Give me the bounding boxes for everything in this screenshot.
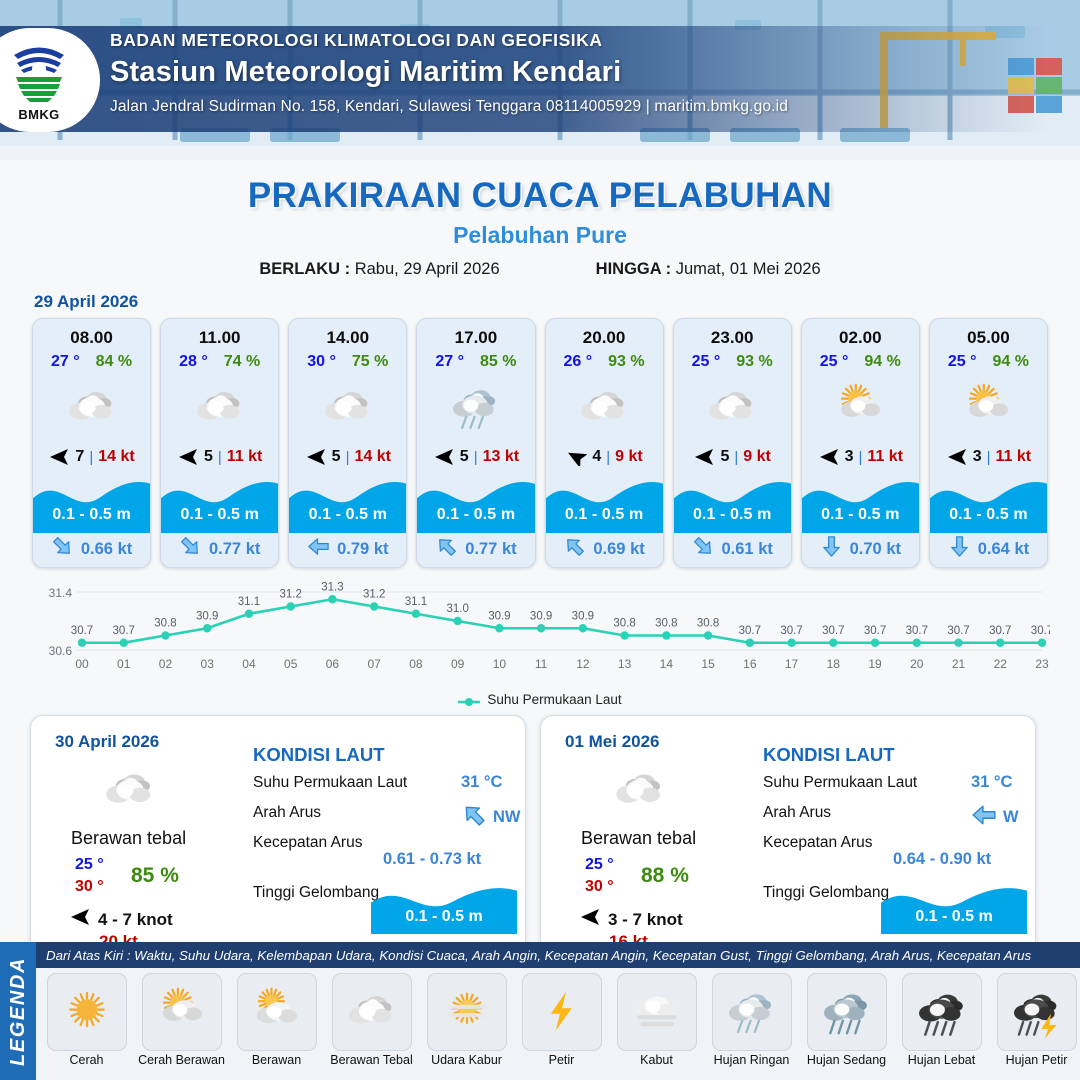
header-org: BADAN METEOROLOGI KLIMATOLOGI DAN GEOFIS… <box>110 30 960 51</box>
legend-item: Hujan Ringan <box>705 973 798 1068</box>
value-wave-height: 0.1 - 0.5 m <box>371 902 517 932</box>
svg-text:30.9: 30.9 <box>572 610 594 622</box>
weather-cerah-berawan-icon <box>142 973 222 1051</box>
card-temperature: 25 ° <box>692 353 721 371</box>
svg-text:30.8: 30.8 <box>655 618 677 630</box>
svg-text:19: 19 <box>868 657 882 671</box>
card-current-row: 0.64 kt <box>930 535 1047 563</box>
card-temperature: 30 ° <box>307 353 336 371</box>
weather-berawan-tebal-icon <box>574 377 634 439</box>
card-wave-height: 0.1 - 0.5 m <box>674 497 791 533</box>
wind-direction-arrow-icon <box>693 448 715 466</box>
current-direction-text: NW <box>493 808 521 827</box>
daily-temp-min: 25 ° <box>585 856 614 874</box>
card-time: 14.00 <box>327 328 370 348</box>
card-gust: 11 kt <box>996 448 1032 466</box>
legend-item: Hujan Lebat <box>895 973 988 1068</box>
card-gust: 13 kt <box>483 448 519 466</box>
card-gust: 11 kt <box>227 448 263 466</box>
svg-text:30.6: 30.6 <box>49 644 73 658</box>
card-wind-row: 3 | 11 kt <box>818 448 903 466</box>
card-wave-height: 0.1 - 0.5 m <box>417 497 534 533</box>
legend-item-label: Hujan Ringan <box>714 1054 790 1068</box>
svg-text:30.7: 30.7 <box>1031 625 1050 637</box>
label-current-speed: Kecepatan Arus <box>253 834 362 852</box>
card-wind-row: 3 | 11 kt <box>946 448 1031 466</box>
current-direction-arrow-icon <box>435 535 458 563</box>
svg-text:16: 16 <box>743 657 757 671</box>
valid-until-value: Jumat, 01 Mei 2026 <box>676 260 821 278</box>
card-time: 17.00 <box>455 328 498 348</box>
card-wind-row: 7 | 14 kt <box>48 448 134 466</box>
chart-legend-label: Suhu Permukaan Laut <box>487 692 621 707</box>
svg-text:01: 01 <box>117 657 131 671</box>
daily-temp-max: 30 ° <box>585 878 614 896</box>
label-wave-height: Tinggi Gelombang <box>253 884 379 902</box>
legend-item: Cerah Berawan <box>135 973 228 1068</box>
current-direction-arrow-icon <box>971 802 997 833</box>
card-humidity: 75 % <box>352 353 388 371</box>
card-humidity: 94 % <box>864 353 900 371</box>
card-wind-row: 5 | 13 kt <box>433 448 519 466</box>
card-separator: | <box>346 449 350 466</box>
legend-item-label: Cerah <box>69 1054 103 1068</box>
card-time: 11.00 <box>199 328 241 348</box>
forecast-card[interactable]: 02.00 25 ° 94 % 3 | 11 kt 0.1 - 0.5 m 0 <box>801 318 920 568</box>
card-current-row: 0.77 kt <box>161 535 278 563</box>
forecast-card[interactable]: 23.00 25 ° 93 % 5 | 9 kt 0.1 - 0.5 m <box>673 318 792 568</box>
legend-item: Berawan <box>230 973 323 1068</box>
card-current-speed: 0.77 kt <box>209 540 260 559</box>
svg-text:15: 15 <box>701 657 715 671</box>
current-direction-arrow-icon <box>948 535 971 563</box>
weather-berawan-tebal-icon <box>318 377 378 439</box>
header-station: Stasiun Meteorologi Maritim Kendari <box>110 56 960 89</box>
card-separator: | <box>218 449 222 466</box>
weather-kabut-icon <box>617 973 697 1051</box>
label-wave-height: Tinggi Gelombang <box>763 884 889 902</box>
card-current-row: 0.70 kt <box>802 535 919 563</box>
sst-chart: 31.430.630.70030.70130.80230.90331.10431… <box>30 578 1050 690</box>
weather-hujan-sedang-icon <box>807 973 887 1051</box>
weather-berawan-tebal-icon <box>609 764 671 824</box>
card-wave-height: 0.1 - 0.5 m <box>802 497 919 533</box>
weather-berawan-tebal-icon <box>190 377 250 439</box>
svg-text:30.7: 30.7 <box>71 625 93 637</box>
wind-direction-arrow-icon <box>177 448 199 466</box>
valid-from-label: BERLAKU : <box>259 260 350 278</box>
wind-direction-arrow-icon <box>818 448 840 466</box>
daily-condition: Berawan tebal <box>71 828 186 849</box>
card-temp-hum-row: 25 ° 94 % <box>820 353 901 371</box>
legend-item-label: Petir <box>549 1054 575 1068</box>
label-current-direction: Arah Arus <box>763 804 831 822</box>
card-time: 05.00 <box>967 328 1010 348</box>
card-wind-speed: 5 <box>204 448 213 466</box>
card-wind-row: 5 | 14 kt <box>305 448 391 466</box>
svg-text:14: 14 <box>660 657 674 671</box>
card-wind-speed: 5 <box>332 448 341 466</box>
card-wind-speed: 3 <box>845 448 854 466</box>
card-current-speed: 0.69 kt <box>593 540 644 559</box>
card-time: 20.00 <box>583 328 626 348</box>
svg-text:03: 03 <box>201 657 215 671</box>
card-separator: | <box>474 449 478 466</box>
card-current-row: 0.66 kt <box>33 535 150 563</box>
card-wind-speed: 7 <box>75 448 84 466</box>
wind-direction-arrow-icon <box>305 448 327 466</box>
card-temperature: 27 ° <box>435 353 464 371</box>
value-current-speed: 0.64 - 0.90 kt <box>893 850 991 869</box>
label-current-direction: Arah Arus <box>253 804 321 822</box>
weather-hujan-ringan-icon <box>712 973 792 1051</box>
svg-text:21: 21 <box>952 657 966 671</box>
bmkg-emblem-icon <box>2 38 76 106</box>
card-gust: 11 kt <box>867 448 903 466</box>
svg-text:11: 11 <box>535 657 548 671</box>
wind-direction-arrow-icon <box>946 448 968 466</box>
bmkg-logo: BMKG <box>0 28 100 132</box>
card-temperature: 27 ° <box>51 353 80 371</box>
card-humidity: 93 % <box>608 353 644 371</box>
card-wind-row: 5 | 11 kt <box>177 448 262 466</box>
svg-text:10: 10 <box>493 657 507 671</box>
svg-text:30.8: 30.8 <box>154 618 176 630</box>
page-title: PRAKIRAAN CUACA PELABUHAN <box>0 176 1080 216</box>
legend-item-label: Hujan Lebat <box>908 1054 975 1068</box>
label-current-speed: Kecepatan Arus <box>763 834 872 852</box>
weather-hujan-petir-icon <box>997 973 1077 1051</box>
card-separator: | <box>987 449 991 466</box>
chart-legend-marker-icon <box>458 695 480 705</box>
daily-condition: Berawan tebal <box>581 828 696 849</box>
forecast-card[interactable]: 20.00 26 ° 93 % 4 | 9 kt 0.1 - 0.5 m <box>545 318 664 568</box>
card-temp-hum-row: 25 ° 93 % <box>692 353 773 371</box>
weather-petir-icon <box>522 973 602 1051</box>
card-current-speed: 0.79 kt <box>337 540 388 559</box>
value-current-speed: 0.61 - 0.73 kt <box>383 850 481 869</box>
card-gust: 9 kt <box>743 448 771 466</box>
card-temperature: 25 ° <box>948 353 977 371</box>
value-current-direction: W <box>971 802 1019 833</box>
svg-text:31.4: 31.4 <box>49 586 73 600</box>
header-address: Jalan Jendral Sudirman No. 158, Kendari,… <box>110 98 960 116</box>
weather-cerah-berawan-icon <box>830 377 890 439</box>
svg-text:30.7: 30.7 <box>739 625 761 637</box>
forecast-card-list: 08.00 27 ° 84 % 7 | 14 kt 0.1 - 0.5 m <box>0 318 1080 568</box>
current-direction-text: W <box>1003 808 1019 827</box>
svg-text:30.7: 30.7 <box>113 625 135 637</box>
weather-berawan-tebal-icon <box>702 377 762 439</box>
bmkg-logo-text: BMKG <box>2 107 76 122</box>
svg-text:30.9: 30.9 <box>488 610 510 622</box>
value-sst: 31 °C <box>971 773 1012 792</box>
card-temperature: 25 ° <box>820 353 849 371</box>
weather-hujan-lebat-icon <box>902 973 982 1051</box>
valid-until: HINGGA : Jumat, 01 Mei 2026 <box>596 260 821 279</box>
legend-section: LEGENDA Dari Atas Kiri : Waktu, Suhu Uda… <box>0 942 1080 1080</box>
label-sst: Suhu Permukaan Laut <box>763 774 917 792</box>
card-temp-hum-row: 26 ° 93 % <box>564 353 645 371</box>
legend-item-label: Cerah Berawan <box>138 1054 225 1068</box>
card-time: 02.00 <box>839 328 882 348</box>
svg-text:12: 12 <box>576 657 590 671</box>
weather-cerah-icon <box>47 973 127 1051</box>
card-humidity: 74 % <box>224 353 260 371</box>
legend-item-list: Cerah Cerah Berawan Berawan <box>36 968 1080 1080</box>
legend-item: Cerah <box>40 973 133 1068</box>
card-humidity: 94 % <box>993 353 1029 371</box>
card-current-row: 0.69 kt <box>546 535 663 563</box>
legend-item-label: Hujan Petir <box>1006 1054 1068 1068</box>
svg-text:02: 02 <box>159 657 173 671</box>
forecast-card[interactable]: 14.00 30 ° 75 % 5 | 14 kt 0.1 - 0.5 m <box>288 318 407 568</box>
svg-text:31.1: 31.1 <box>405 596 427 608</box>
daily-date: 01 Mei 2026 <box>565 732 660 752</box>
svg-text:30.7: 30.7 <box>989 625 1011 637</box>
sea-condition-title: KONDISI LAUT <box>253 744 385 766</box>
svg-text:30.9: 30.9 <box>196 610 218 622</box>
card-wind-speed: 3 <box>973 448 982 466</box>
current-direction-arrow-icon <box>179 535 202 563</box>
card-separator: | <box>606 449 610 466</box>
forecast-card[interactable]: 05.00 25 ° 94 % 3 | 11 kt 0.1 - 0.5 m 0 <box>929 318 1048 568</box>
svg-text:07: 07 <box>367 657 381 671</box>
card-wave-height: 0.1 - 0.5 m <box>161 497 278 533</box>
current-direction-arrow-icon <box>820 535 843 563</box>
wind-direction-arrow-icon <box>579 908 601 931</box>
legend-item: Kabut <box>610 973 703 1068</box>
svg-text:18: 18 <box>827 657 841 671</box>
legend-side-title: LEGENDA <box>7 957 30 1066</box>
card-temp-hum-row: 28 ° 74 % <box>179 353 260 371</box>
current-direction-arrow-icon <box>563 535 586 563</box>
chart-legend: Suhu Permukaan Laut <box>0 692 1080 707</box>
card-current-speed: 0.61 kt <box>722 540 773 559</box>
daily-wind-row: 4 - 7 knot <box>69 908 173 931</box>
svg-text:30.7: 30.7 <box>864 625 886 637</box>
value-sst: 31 °C <box>461 773 502 792</box>
svg-text:31.2: 31.2 <box>363 589 385 601</box>
card-temp-hum-row: 27 ° 84 % <box>51 353 132 371</box>
svg-text:06: 06 <box>326 657 340 671</box>
svg-text:30.7: 30.7 <box>822 625 844 637</box>
forecast-card[interactable]: 11.00 28 ° 74 % 5 | 11 kt 0.1 - 0.5 m <box>160 318 279 568</box>
card-gust: 9 kt <box>615 448 643 466</box>
svg-text:30.9: 30.9 <box>530 610 552 622</box>
weather-berawan-tebal-icon <box>62 377 122 439</box>
daily-summary-row: 30 April 2026 Berawan tebal 25 ° 30 ° 85… <box>0 707 1080 957</box>
sst-chart-svg: 31.430.630.70030.70130.80230.90331.10431… <box>30 578 1050 690</box>
card-separator: | <box>859 449 863 466</box>
weather-berawan-tebal-icon <box>332 973 412 1051</box>
card-time: 23.00 <box>711 328 754 348</box>
daily-date: 30 April 2026 <box>55 732 159 752</box>
daily-humidity: 85 % <box>131 864 179 888</box>
card-current-row: 0.61 kt <box>674 535 791 563</box>
legend-item-label: Berawan Tebal <box>330 1054 412 1068</box>
current-direction-arrow-icon <box>692 535 715 563</box>
card-wave-height: 0.1 - 0.5 m <box>289 497 406 533</box>
card-temperature: 28 ° <box>179 353 208 371</box>
weather-berawan-icon <box>237 973 317 1051</box>
legend-item-label: Hujan Sedang <box>807 1054 886 1068</box>
svg-text:08: 08 <box>409 657 423 671</box>
value-current-direction: NW <box>461 802 521 833</box>
svg-text:09: 09 <box>451 657 465 671</box>
weather-udara-kabur-icon <box>427 973 507 1051</box>
svg-text:30.7: 30.7 <box>947 625 969 637</box>
daily-summary-card[interactable]: 30 April 2026 Berawan tebal 25 ° 30 ° 85… <box>30 715 526 957</box>
legend-item-label: Berawan <box>252 1054 301 1068</box>
daily-temp-max: 30 ° <box>75 878 104 896</box>
card-gust: 14 kt <box>354 448 390 466</box>
wind-direction-arrow-icon <box>433 448 455 466</box>
legend-item: Udara Kabur <box>420 973 513 1068</box>
card-temperature: 26 ° <box>564 353 593 371</box>
card-wave-height: 0.1 - 0.5 m <box>33 497 150 533</box>
value-wave-height: 0.1 - 0.5 m <box>881 902 1027 932</box>
card-current-speed: 0.77 kt <box>465 540 516 559</box>
svg-text:20: 20 <box>910 657 924 671</box>
card-current-speed: 0.66 kt <box>81 540 132 559</box>
card-humidity: 84 % <box>96 353 132 371</box>
card-separator: | <box>734 449 738 466</box>
card-wind-row: 5 | 9 kt <box>693 448 770 466</box>
weather-berawan-tebal-icon <box>99 764 161 824</box>
card-temp-hum-row: 30 ° 75 % <box>307 353 388 371</box>
card-humidity: 85 % <box>480 353 516 371</box>
svg-text:30.7: 30.7 <box>906 625 928 637</box>
svg-text:30.8: 30.8 <box>613 618 635 630</box>
card-wave-height: 0.1 - 0.5 m <box>546 497 663 533</box>
card-wind-speed: 4 <box>592 448 601 466</box>
page-subtitle: Pelabuhan Pure <box>0 222 1080 249</box>
legend-item: Hujan Petir <box>990 973 1080 1068</box>
legend-item-label: Kabut <box>640 1054 673 1068</box>
wind-direction-arrow-icon <box>69 908 91 931</box>
card-current-row: 0.79 kt <box>289 535 406 563</box>
page-header: BMKG BADAN METEOROLOGI KLIMATOLOGI DAN G… <box>0 0 1080 160</box>
card-temp-hum-row: 27 ° 85 % <box>435 353 516 371</box>
valid-until-label: HINGGA : <box>596 260 671 278</box>
current-direction-arrow-icon <box>51 535 74 563</box>
svg-text:31.0: 31.0 <box>446 603 468 615</box>
daily-wind: 3 - 7 knot <box>608 910 683 930</box>
card-humidity: 93 % <box>736 353 772 371</box>
daily-summary-card[interactable]: 01 Mei 2026 Berawan tebal 25 ° 30 ° 88 %… <box>540 715 1036 957</box>
label-sst: Suhu Permukaan Laut <box>253 774 407 792</box>
daily-wind-row: 3 - 7 knot <box>579 908 683 931</box>
daily-wind: 4 - 7 knot <box>98 910 173 930</box>
legend-side-bar: LEGENDA <box>0 942 36 1080</box>
valid-from: BERLAKU : Rabu, 29 April 2026 <box>259 260 499 279</box>
svg-text:17: 17 <box>785 657 799 671</box>
valid-from-value: Rabu, 29 April 2026 <box>355 260 500 278</box>
svg-text:30.8: 30.8 <box>697 618 719 630</box>
card-separator: | <box>89 449 93 466</box>
svg-text:23: 23 <box>1035 657 1049 671</box>
card-temp-hum-row: 25 ° 94 % <box>948 353 1029 371</box>
svg-text:05: 05 <box>284 657 298 671</box>
card-wind-row: 4 | 9 kt <box>565 448 642 466</box>
forecast-card[interactable]: 08.00 27 ° 84 % 7 | 14 kt 0.1 - 0.5 m <box>32 318 151 568</box>
wind-direction-arrow-icon <box>48 448 70 466</box>
sea-condition-title: KONDISI LAUT <box>763 744 895 766</box>
weather-hujan-ringan-icon <box>446 377 506 439</box>
card-gust: 14 kt <box>98 448 134 466</box>
daily-humidity: 88 % <box>641 864 689 888</box>
legend-note: Dari Atas Kiri : Waktu, Suhu Udara, Kele… <box>36 942 1080 968</box>
card-wind-speed: 5 <box>720 448 729 466</box>
current-direction-arrow-icon <box>461 802 487 833</box>
card-wave-height: 0.1 - 0.5 m <box>930 497 1047 533</box>
validity-row: BERLAKU : Rabu, 29 April 2026 HINGGA : J… <box>0 260 1080 279</box>
current-direction-arrow-icon <box>307 535 330 563</box>
card-wind-speed: 5 <box>460 448 469 466</box>
card-current-speed: 0.64 kt <box>978 540 1029 559</box>
svg-text:31.1: 31.1 <box>238 596 260 608</box>
daily-temp-min: 25 ° <box>75 856 104 874</box>
svg-text:30.7: 30.7 <box>780 625 802 637</box>
forecast-day-label: 29 April 2026 <box>34 292 1080 312</box>
forecast-card[interactable]: 17.00 27 ° 85 % 5 | 13 kt <box>416 318 535 568</box>
svg-text:31.2: 31.2 <box>280 589 302 601</box>
weather-cerah-berawan-icon <box>958 377 1018 439</box>
svg-text:00: 00 <box>75 657 89 671</box>
card-time: 08.00 <box>70 328 113 348</box>
legend-item: Petir <box>515 973 608 1068</box>
svg-text:22: 22 <box>994 657 1008 671</box>
card-current-row: 0.77 kt <box>417 535 534 563</box>
legend-item-label: Udara Kabur <box>431 1054 502 1068</box>
svg-text:31.3: 31.3 <box>321 581 343 593</box>
svg-text:13: 13 <box>618 657 632 671</box>
wind-direction-arrow-icon <box>565 448 587 466</box>
svg-text:04: 04 <box>242 657 256 671</box>
card-current-speed: 0.70 kt <box>850 540 901 559</box>
legend-item: Hujan Sedang <box>800 973 893 1068</box>
legend-item: Berawan Tebal <box>325 973 418 1068</box>
